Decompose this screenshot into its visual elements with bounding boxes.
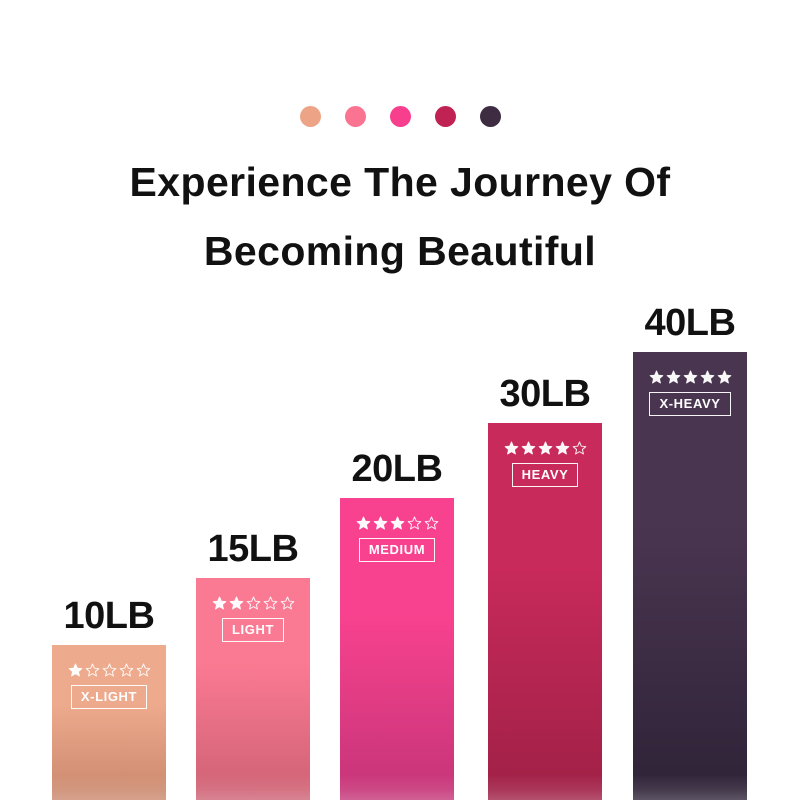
resistance-level-bar-chart: 10LBX-LIGHT15LBLIGHT20LBMEDIUM30LBHEAVY4… [0,0,800,800]
star-outline-icon [572,441,587,456]
bar-weight-label: 30LB [500,375,591,413]
star-rating [68,663,151,678]
star-outline-icon [407,516,422,531]
bar-rating-block: HEAVY [488,441,602,487]
star-outline-icon [136,663,151,678]
bar-group[interactable]: 10LBX-LIGHT [52,645,166,800]
bar-column[interactable]: MEDIUM [340,498,454,800]
star-rating [504,441,587,456]
bar-fill [633,352,747,800]
star-filled-icon [700,370,715,385]
bar-column[interactable]: X-LIGHT [52,645,166,800]
star-filled-icon [683,370,698,385]
star-filled-icon [68,663,83,678]
level-badge: X-HEAVY [649,392,730,416]
level-badge: LIGHT [222,618,284,642]
star-outline-icon [102,663,117,678]
bar-weight-label: 15LB [208,530,299,568]
star-rating [212,596,295,611]
star-filled-icon [521,441,536,456]
star-outline-icon [263,596,278,611]
star-filled-icon [555,441,570,456]
bar-group[interactable]: 40LBX-HEAVY [633,352,747,800]
star-filled-icon [717,370,732,385]
star-filled-icon [390,516,405,531]
level-badge: MEDIUM [359,538,435,562]
star-filled-icon [212,596,227,611]
star-rating [356,516,439,531]
bar-group[interactable]: 15LBLIGHT [196,578,310,800]
star-filled-icon [229,596,244,611]
bar-rating-block: MEDIUM [340,516,454,562]
level-badge: X-LIGHT [71,685,147,709]
bar-rating-block: X-LIGHT [52,663,166,709]
star-outline-icon [280,596,295,611]
star-outline-icon [119,663,134,678]
bar-rating-block: LIGHT [196,596,310,642]
star-filled-icon [356,516,371,531]
bar-column[interactable]: LIGHT [196,578,310,800]
bar-weight-label: 20LB [352,450,443,488]
star-filled-icon [666,370,681,385]
bar-rating-block: X-HEAVY [633,370,747,416]
star-rating [649,370,732,385]
star-outline-icon [424,516,439,531]
star-filled-icon [373,516,388,531]
star-filled-icon [538,441,553,456]
star-filled-icon [649,370,664,385]
bar-weight-label: 40LB [645,304,736,342]
star-filled-icon [504,441,519,456]
bar-group[interactable]: 30LBHEAVY [488,423,602,800]
product-infographic: Experience The Journey Of Becoming Beaut… [0,0,800,800]
bar-column[interactable]: HEAVY [488,423,602,800]
star-outline-icon [85,663,100,678]
level-badge: HEAVY [512,463,579,487]
bar-group[interactable]: 20LBMEDIUM [340,498,454,800]
bar-column[interactable]: X-HEAVY [633,352,747,800]
star-outline-icon [246,596,261,611]
bar-weight-label: 10LB [64,597,155,635]
